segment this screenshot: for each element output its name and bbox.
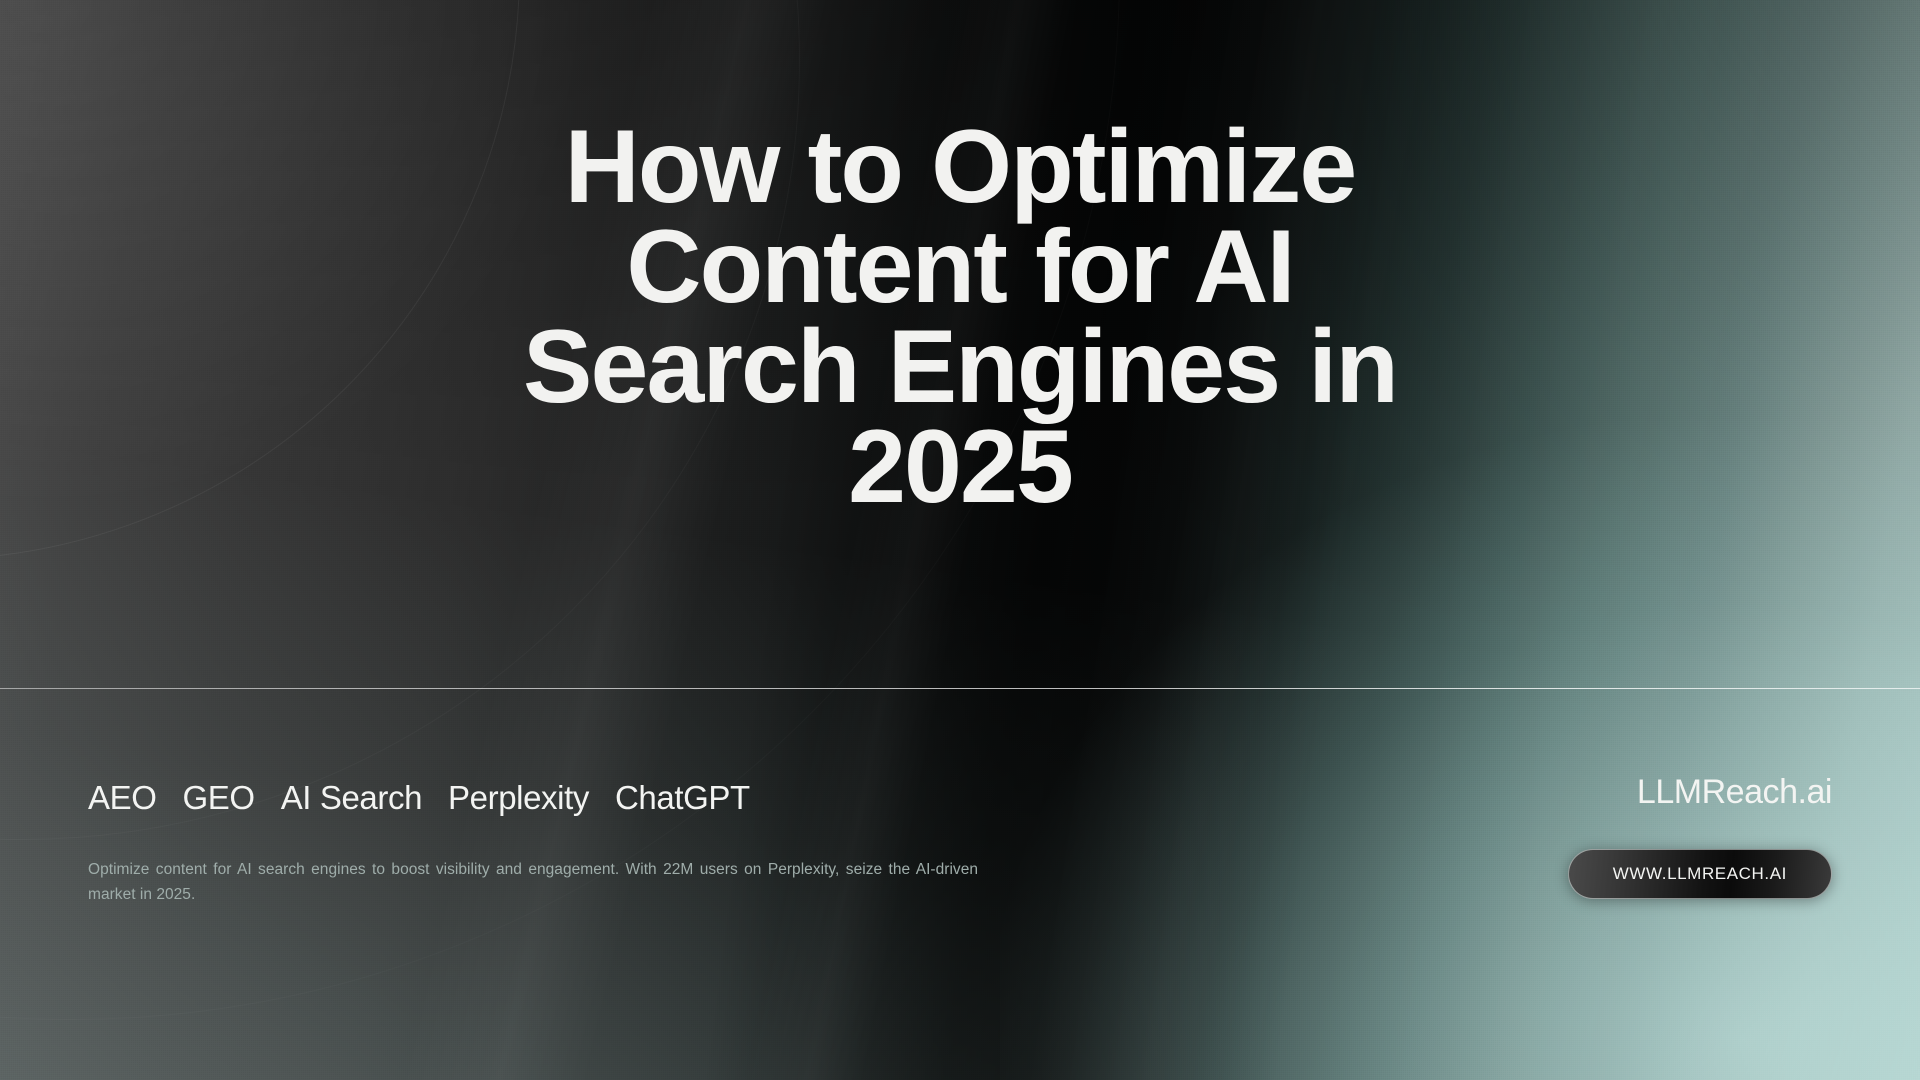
footer-section: AEO GEO AI Search Perplexity ChatGPT Opt… [0, 689, 1920, 1080]
poster-content: How to Optimize Content for AI Search En… [0, 0, 1920, 1080]
poster-canvas: How to Optimize Content for AI Search En… [0, 0, 1920, 1080]
keyword-tag-chatgpt: ChatGPT [615, 779, 750, 817]
keyword-tag-geo: GEO [183, 779, 255, 817]
keyword-tag-aeo: AEO [88, 779, 157, 817]
page-title: How to Optimize Content for AI Search En… [480, 118, 1440, 517]
keyword-list: AEO GEO AI Search Perplexity ChatGPT [88, 779, 1060, 817]
keyword-tag-perplexity: Perplexity [448, 779, 589, 817]
footer-left-column: AEO GEO AI Search Perplexity ChatGPT Opt… [0, 689, 1060, 907]
keyword-tag-ai-search: AI Search [281, 779, 422, 817]
horizontal-divider [0, 688, 1920, 689]
footer-right-column: LLMReach.ai WWW.LLMREACH.AI [1568, 689, 1920, 899]
description-text: Optimize content for AI search engines t… [88, 857, 978, 907]
brand-name: LLMReach.ai [1637, 775, 1832, 809]
hero-section: How to Optimize Content for AI Search En… [0, 0, 1920, 688]
website-cta-button[interactable]: WWW.LLMREACH.AI [1568, 849, 1832, 899]
